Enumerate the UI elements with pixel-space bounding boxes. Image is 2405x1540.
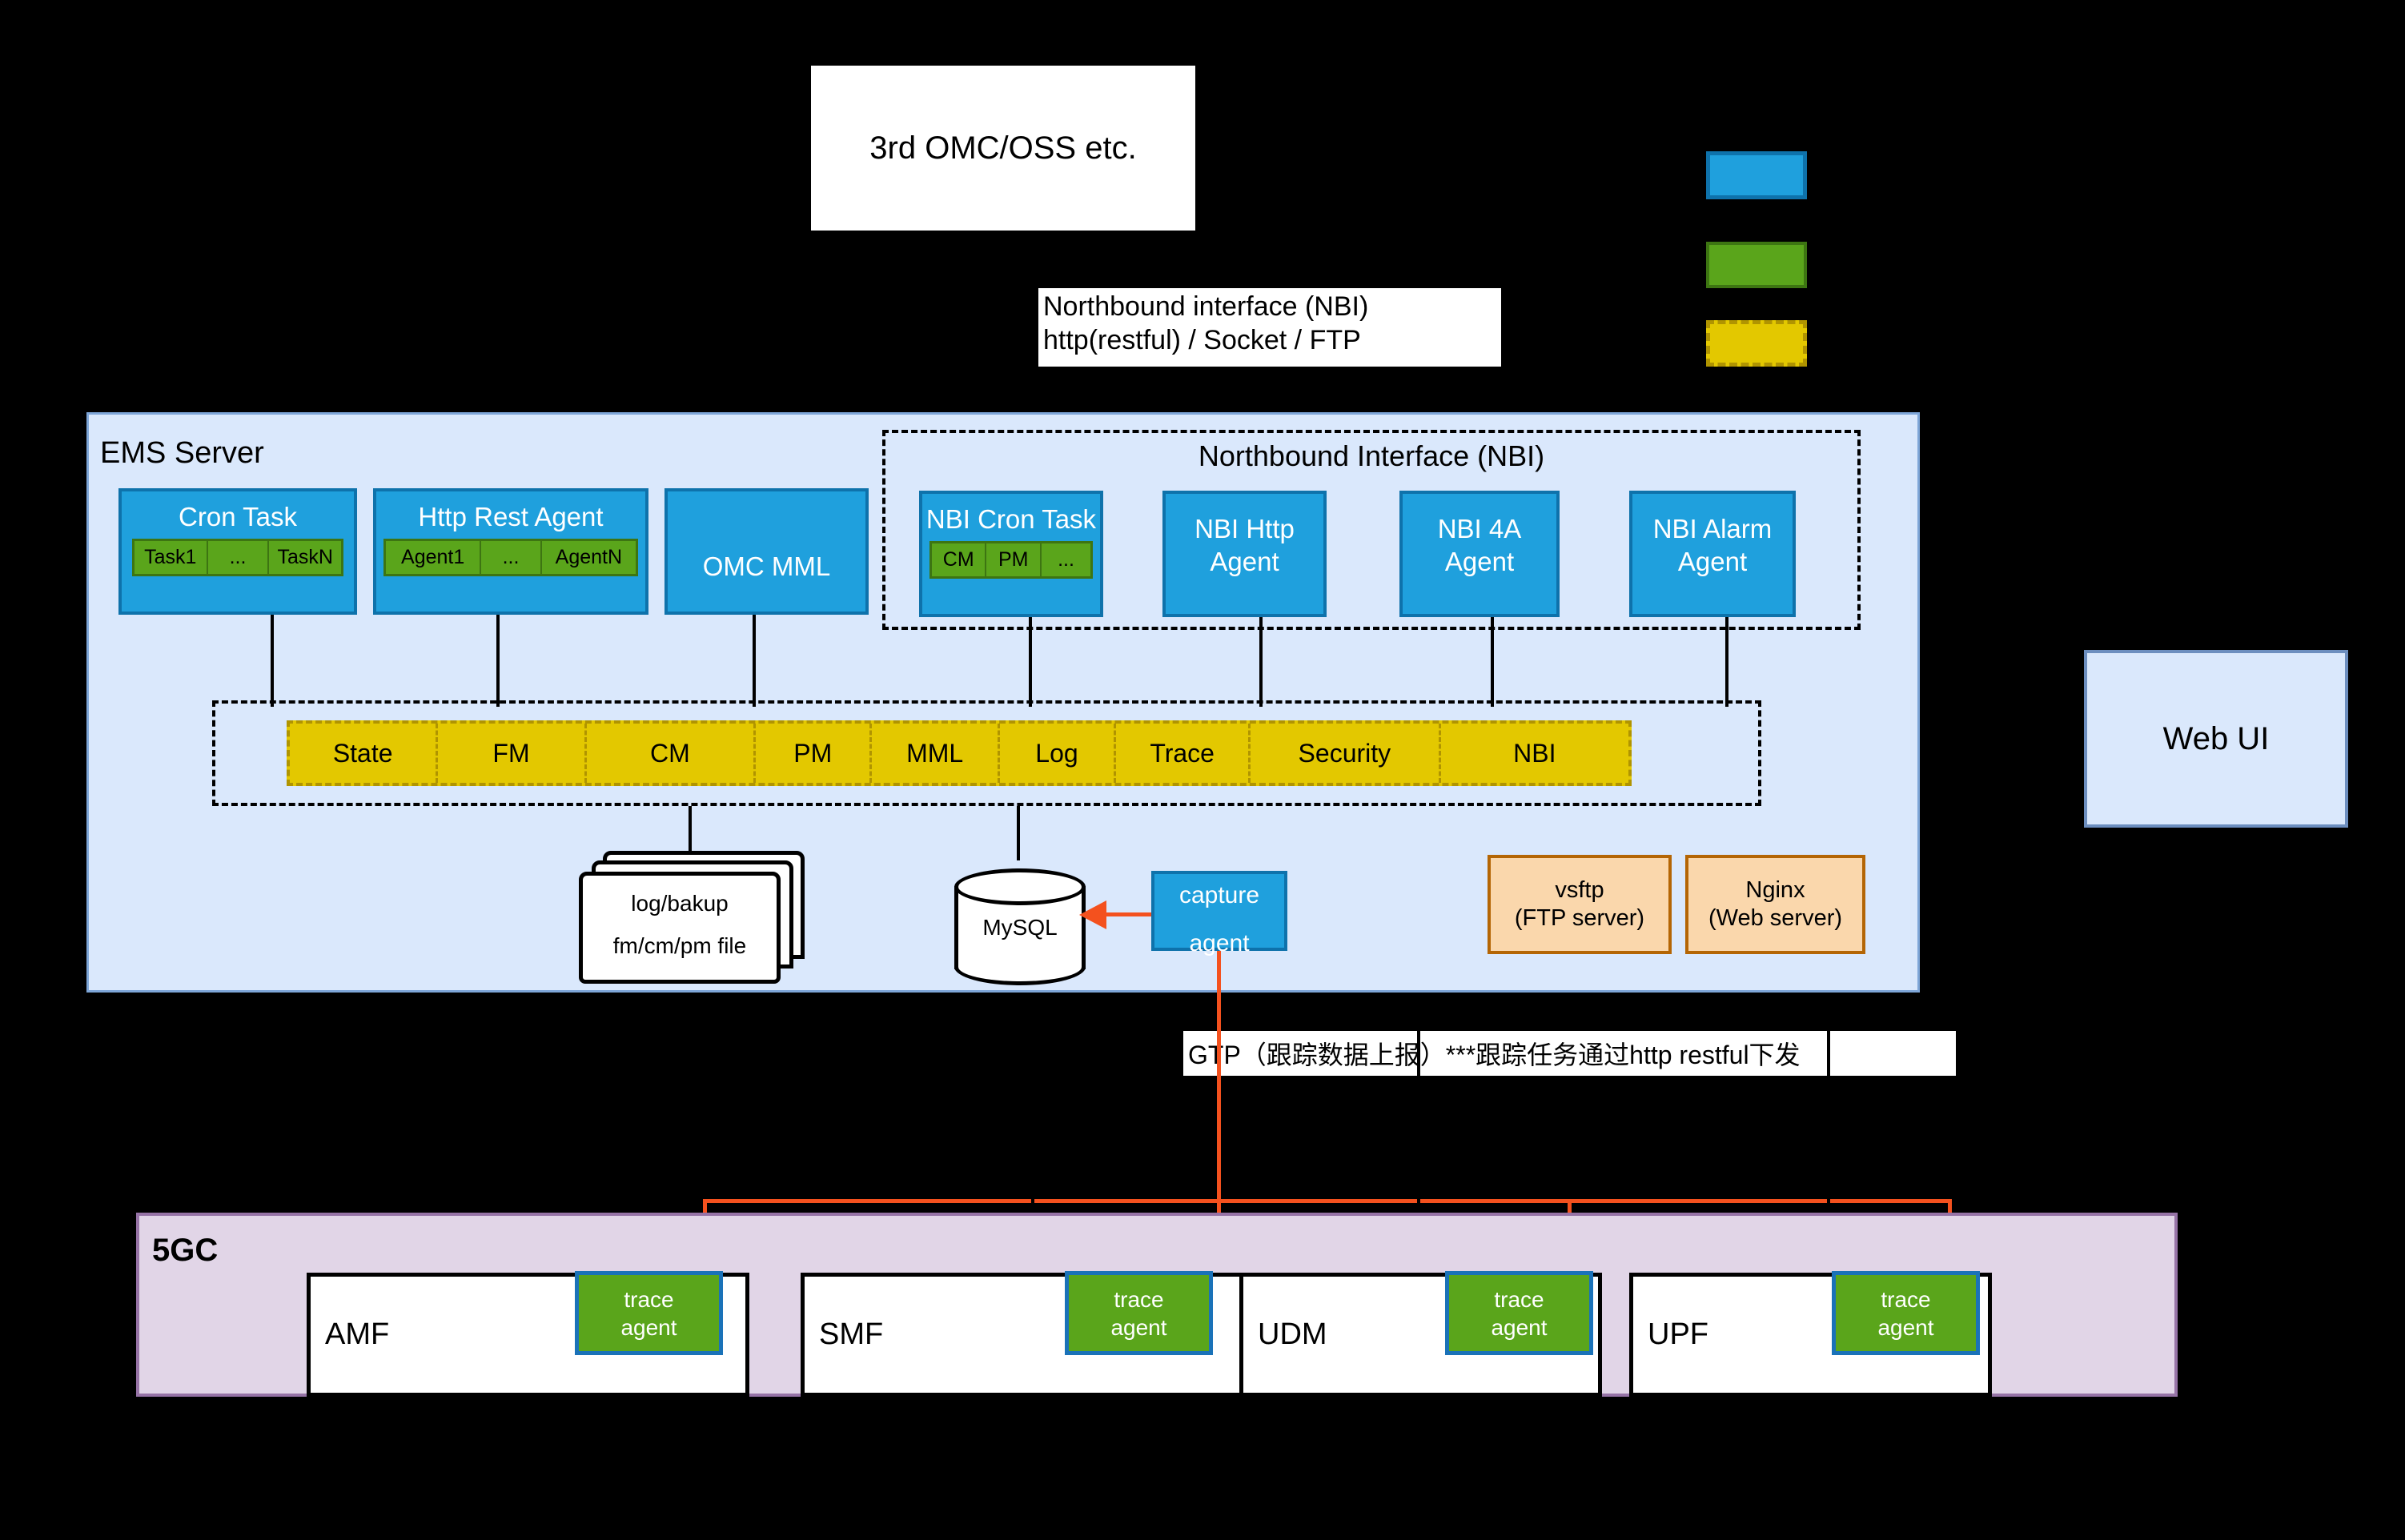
- component-http-rest-agent[interactable]: Http Rest Agent Agent1 ... AgentN: [373, 488, 648, 615]
- legend-yellow-swatch: [1706, 320, 1807, 367]
- trace-agent-amf-line-1: trace: [620, 1285, 677, 1313]
- component-nbi-http-agent[interactable]: NBI Http Agent: [1162, 491, 1327, 617]
- nbi-note-line-1: Northbound interface (NBI): [1043, 290, 1496, 323]
- web-ui-label: Web UI: [2163, 721, 2270, 757]
- trace-agent-smf[interactable]: trace agent: [1065, 1271, 1213, 1355]
- component-nbi-alarm-agent[interactable]: NBI Alarm Agent: [1629, 491, 1796, 617]
- legend-green-swatch: [1706, 242, 1807, 288]
- connector-nbi-cron-task-to-service-bar: [1029, 617, 1032, 707]
- component-nbi-alarm-agent-title-line2: Agent: [1632, 544, 1793, 577]
- chip-task-ellipsis: ...: [208, 541, 270, 574]
- component-cron-task[interactable]: Cron Task Task1 ... TaskN: [118, 488, 357, 615]
- component-omc-mml[interactable]: OMC MML: [664, 488, 869, 615]
- network-function-udm-label: UDM: [1243, 1317, 1327, 1352]
- server-vsftp-line-1: vsftp: [1515, 876, 1644, 904]
- connector-capture-agent-trunk: [1217, 951, 1221, 1201]
- service-security[interactable]: Security: [1251, 724, 1440, 783]
- component-nbi-4a-agent-title-line1: NBI 4A: [1403, 494, 1556, 544]
- network-function-amf-label: AMF: [311, 1317, 389, 1352]
- connector-omc-to-ems: [1002, 231, 1005, 415]
- chip-taskn: TaskN: [269, 541, 341, 574]
- component-nbi-cron-task-title: NBI Cron Task: [922, 494, 1100, 535]
- component-omc-mml-title: OMC MML: [668, 522, 865, 582]
- chip-pm: PM: [986, 543, 1041, 576]
- connector-service-bar-to-file-store: [689, 806, 692, 854]
- chip-cm: CM: [932, 543, 986, 576]
- component-http-rest-agent-title: Http Rest Agent: [376, 491, 645, 532]
- file-store-shape: log/bakup fm/cm/pm file: [579, 851, 811, 971]
- trace-agent-upf[interactable]: trace agent: [1832, 1271, 1980, 1355]
- connector-nbi-alarm-agent-to-service-bar: [1725, 617, 1728, 707]
- trace-agent-udm-line-1: trace: [1491, 1285, 1547, 1313]
- third-party-omc-oss-label: 3rd OMC/OSS etc.: [869, 130, 1136, 166]
- service-nbi[interactable]: NBI: [1441, 724, 1628, 783]
- chip-agent-ellipsis: ...: [481, 541, 541, 574]
- nbi-protocol-note: Northbound interface (NBI) http(restful)…: [1038, 288, 1501, 367]
- trace-agent-smf-line-1: trace: [1110, 1285, 1166, 1313]
- service-mml[interactable]: MML: [872, 724, 999, 783]
- component-nbi-http-agent-title-line2: Agent: [1166, 544, 1323, 577]
- server-vsftp-line-2: (FTP server): [1515, 904, 1644, 932]
- ems-server-title: EMS Server: [100, 436, 436, 475]
- connector-capture-agent-to-database: [1105, 912, 1153, 916]
- core-network-title: 5GC: [152, 1233, 312, 1273]
- capture-agent-line-2: agent: [1154, 909, 1284, 957]
- server-nginx[interactable]: Nginx (Web server): [1685, 855, 1865, 954]
- gtp-annotation: GTP（跟踪数据上报）***跟踪任务通过http restful下发: [1183, 1031, 1956, 1076]
- trace-agent-smf-line-2: agent: [1110, 1313, 1166, 1341]
- chip-task1: Task1: [135, 541, 208, 574]
- arrowhead-to-database: [1079, 900, 1106, 929]
- component-nbi-http-agent-title-line1: NBI Http: [1166, 494, 1323, 544]
- server-vsftp[interactable]: vsftp (FTP server): [1488, 855, 1672, 954]
- service-fm[interactable]: FM: [438, 724, 586, 783]
- trace-bus-horizontal: [703, 1199, 1952, 1203]
- server-nginx-line-1: Nginx: [1708, 876, 1842, 904]
- capture-agent-line-1: capture: [1154, 874, 1284, 909]
- connector-service-bar-to-database: [1017, 806, 1020, 860]
- network-function-upf-label: UPF: [1633, 1317, 1708, 1352]
- chip-agent1: Agent1: [386, 541, 481, 574]
- service-cm[interactable]: CM: [587, 724, 756, 783]
- trace-agent-udm[interactable]: trace agent: [1445, 1271, 1593, 1355]
- trace-agent-upf-line-1: trace: [1877, 1285, 1933, 1313]
- trace-agent-amf[interactable]: trace agent: [575, 1271, 723, 1355]
- server-nginx-line-2: (Web server): [1708, 904, 1842, 932]
- nbi-cron-task-chip-row: CM PM ...: [929, 541, 1093, 579]
- service-bar: State FM CM PM MML Log Trace Security NB…: [287, 720, 1632, 786]
- http-rest-agent-chip-row: Agent1 ... AgentN: [383, 539, 638, 576]
- architecture-diagram: 3rd OMC/OSS etc. Northbound interface (N…: [0, 0, 2405, 1540]
- third-party-omc-oss-box: 3rd OMC/OSS etc.: [811, 66, 1195, 231]
- component-nbi-4a-agent-title-line2: Agent: [1403, 544, 1556, 577]
- nbi-group-title: Northbound Interface (NBI): [885, 439, 1857, 473]
- service-pm[interactable]: PM: [756, 724, 872, 783]
- service-state[interactable]: State: [290, 724, 438, 783]
- component-capture-agent[interactable]: capture agent: [1151, 871, 1287, 951]
- trace-agent-amf-line-2: agent: [620, 1313, 677, 1341]
- component-nbi-cron-task[interactable]: NBI Cron Task CM PM ...: [919, 491, 1103, 617]
- connector-http-rest-agent-to-service-bar: [496, 615, 500, 707]
- component-nbi-alarm-agent-title-line1: NBI Alarm: [1632, 494, 1793, 544]
- component-cron-task-title: Cron Task: [122, 491, 354, 532]
- cron-task-chip-row: Task1 ... TaskN: [132, 539, 343, 576]
- file-store-line-1: log/bakup: [579, 891, 781, 916]
- nbi-note-line-2: http(restful) / Socket / FTP: [1043, 323, 1496, 357]
- connector-cron-task-to-service-bar: [271, 615, 274, 707]
- connector-nbi-http-agent-to-service-bar: [1259, 617, 1263, 707]
- connector-nbi-4a-agent-to-service-bar: [1491, 617, 1494, 707]
- chip-agentn: AgentN: [542, 541, 636, 574]
- component-nbi-4a-agent[interactable]: NBI 4A Agent: [1399, 491, 1560, 617]
- service-log[interactable]: Log: [1000, 724, 1116, 783]
- chip-nbi-ellipsis: ...: [1042, 543, 1090, 576]
- trace-agent-udm-line-2: agent: [1491, 1313, 1547, 1341]
- trace-agent-upf-line-2: agent: [1877, 1313, 1933, 1341]
- database-cylinder: MySQL: [954, 868, 1086, 987]
- service-trace[interactable]: Trace: [1116, 724, 1251, 783]
- database-label: MySQL: [954, 910, 1086, 945]
- network-function-smf-label: SMF: [805, 1317, 883, 1352]
- connector-omc-mml-to-service-bar: [753, 615, 756, 707]
- legend-blue-swatch: [1706, 151, 1807, 199]
- file-store-line-2: fm/cm/pm file: [579, 933, 781, 959]
- web-ui-box[interactable]: Web UI: [2084, 650, 2348, 828]
